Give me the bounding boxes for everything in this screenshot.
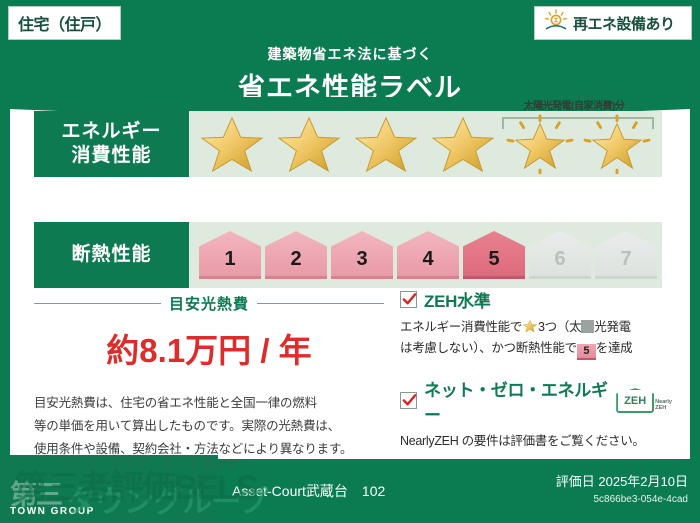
zeh-standard-title: ZEH水準 (424, 287, 491, 312)
utility-cost-note: 目安光熱費は、住宅の省エネ性能と全国一律の燃料 等の単価を用いて算出したものです… (34, 392, 384, 461)
evaluation-date: 評価日 2025年2月10日 (556, 471, 688, 490)
checkbox-checked-icon (400, 291, 417, 308)
star-solar (503, 114, 577, 174)
renewable-badge-label: 再エネ設備あり (573, 13, 675, 34)
solar-sun-icon (543, 9, 569, 38)
insulation-level-item: 1 (199, 231, 261, 279)
inline-star-icon (522, 318, 538, 334)
insulation-performance-label: 断熱性能 (34, 222, 189, 288)
inline-level-badge: 5 (577, 344, 596, 360)
star-filled (426, 114, 500, 174)
zeh-logo-icon: ZEH Nearly ZEH (616, 388, 672, 413)
net-zero-energy-item: ネット・ゼロ・エネルギー ZEH Nearly ZEH NearlyZEH の要… (400, 376, 672, 452)
net-zero-energy-title: ネット・ゼロ・エネルギー (424, 376, 609, 426)
insulation-levels-panel: 1 2 3 4 5 (189, 222, 662, 288)
net-zero-energy-description: NearlyZEH の要件は評価書をご覧ください。 (400, 431, 672, 452)
star-filled (195, 114, 269, 174)
title-subtitle: 建築物省エネ法に基づく (0, 44, 700, 64)
utility-cost-block: 目安光熱費 約8.1万円 / 年 目安光熱費は、住宅の省エネ性能と全国一律の燃料… (34, 293, 384, 461)
redacted-text-block (581, 320, 594, 333)
zeh-standard-description: エネルギー消費性能で3つ（太光発電 は考慮しない）、かつ断熱性能で5を達成 (400, 317, 672, 360)
zeh-compliance-block: ZEH水準 エネルギー消費性能で3つ（太光発電 は考慮しない）、かつ断熱性能で5… (400, 287, 672, 467)
label-title: 建築物省エネ法に基づく 省エネ性能ラベル (0, 44, 700, 105)
zeh-standard-header: ZEH水準 (400, 287, 672, 312)
net-zero-energy-header: ネット・ゼロ・エネルギー ZEH Nearly ZEH (400, 376, 672, 426)
insulation-level-item: 6 (529, 231, 591, 279)
energy-performance-row: エネルギー 消費性能 太陽光発電(自家消費)分 (34, 111, 662, 177)
zeh-logo-subtext: Nearly ZEH (655, 399, 672, 413)
rule-left (34, 303, 161, 304)
insulation-level-item-current: 5 (463, 231, 525, 279)
solar-caption: 太陽光発電(自家消費)分 (494, 97, 654, 112)
zeh-standard-item: ZEH水準 エネルギー消費性能で3つ（太光発電 は考慮しない）、かつ断熱性能で5… (400, 287, 672, 360)
insulation-performance-row: 断熱性能 1 2 3 (34, 222, 662, 288)
insulation-level-list: 1 2 3 4 5 (199, 222, 657, 288)
star-solar (580, 114, 654, 174)
star-filled (349, 114, 423, 174)
energy-performance-label: 住宅（住戸） 再エネ設備あり 建築物省エネ法に基づく 省エネ性能ラベル (0, 0, 700, 523)
label-body-card: エネルギー 消費性能 太陽光発電(自家消費)分 (10, 97, 690, 459)
footer-meta: 評価日 2025年2月10日 5c866be3-054e-4cad (556, 471, 688, 505)
rule-right (257, 303, 384, 304)
star-filled (272, 114, 346, 174)
checkbox-checked-icon (400, 392, 417, 409)
utility-cost-amount: 約8.1万円 / 年 (34, 324, 384, 372)
insulation-level-item: 2 (265, 231, 327, 279)
document-id: 5c866be3-054e-4cad (556, 494, 688, 505)
insulation-level-item: 7 (595, 231, 657, 279)
watermark-bels: 第三者評価BELS (14, 460, 257, 509)
insulation-level-item: 4 (397, 231, 459, 279)
energy-performance-label: エネルギー 消費性能 (34, 111, 189, 177)
zeh-logo-house: ZEH (616, 388, 654, 413)
utility-cost-heading: 目安光熱費 (34, 293, 384, 314)
renewable-equipment-badge: 再エネ設備あり (534, 6, 692, 40)
energy-stars-panel: 太陽光発電(自家消費)分 (189, 111, 662, 177)
utility-cost-heading-text: 目安光熱費 (169, 293, 249, 314)
insulation-level-item: 3 (331, 231, 393, 279)
housing-type-tag: 住宅（住戸） (8, 6, 121, 40)
star-rating (195, 111, 654, 177)
